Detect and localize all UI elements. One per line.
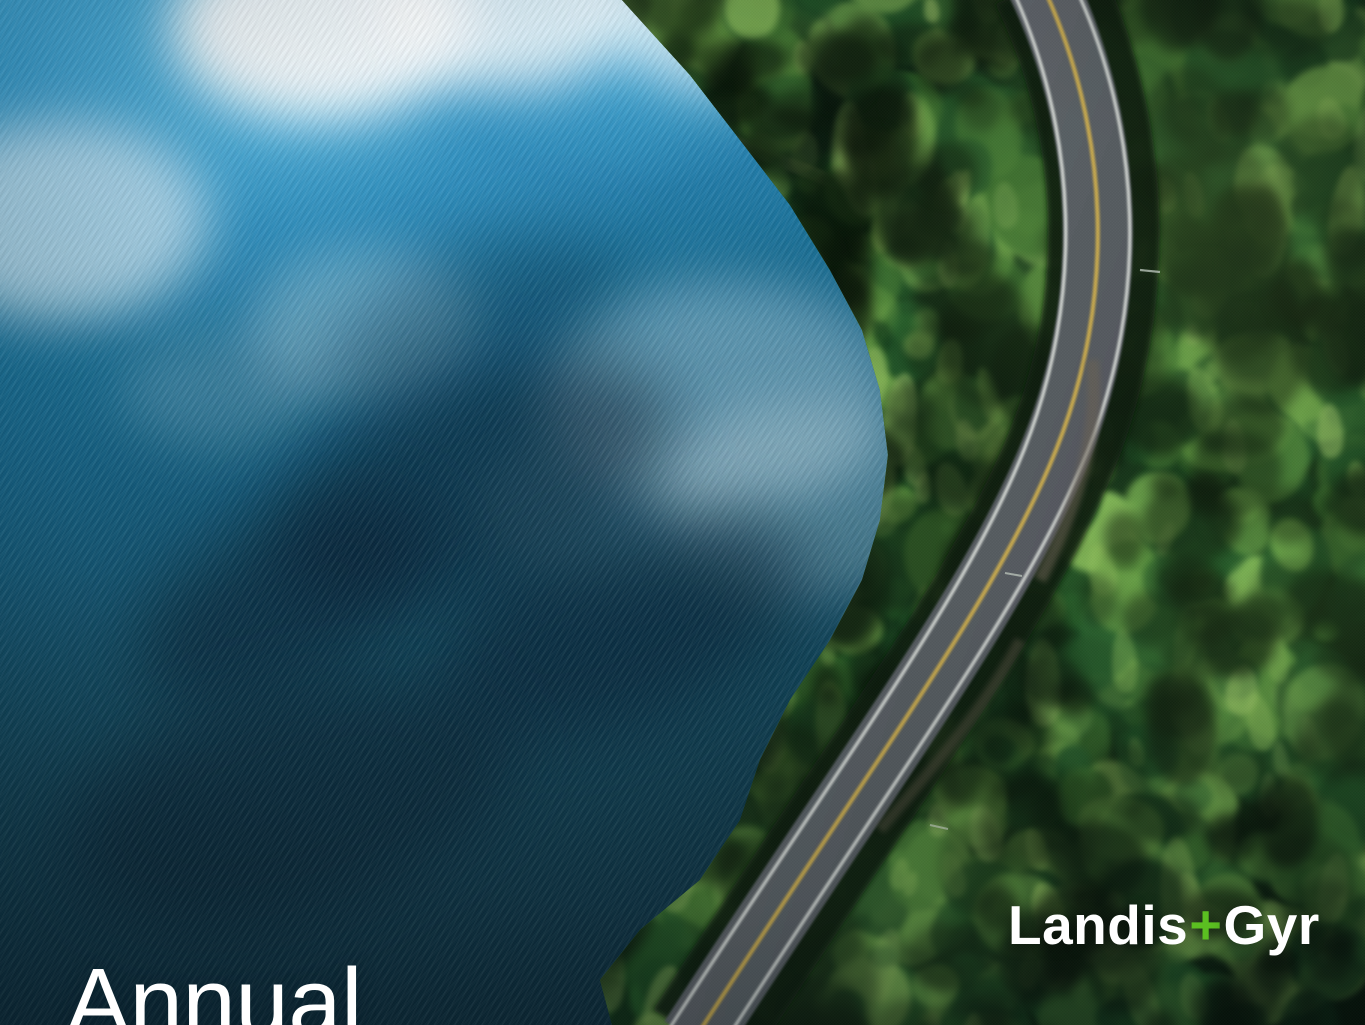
logo-plus-icon: + [1189, 897, 1222, 953]
landis-gyr-logo: Landis + Gyr [1008, 893, 1320, 957]
logo-text-right: Gyr [1223, 893, 1319, 957]
logo-text-left: Landis [1008, 893, 1188, 957]
report-cover: Annual Report 2024 Landis + Gyr [0, 0, 1365, 1025]
page-title: Annual Report 2024 [66, 722, 589, 1025]
title-line-1: Annual [66, 947, 589, 1025]
